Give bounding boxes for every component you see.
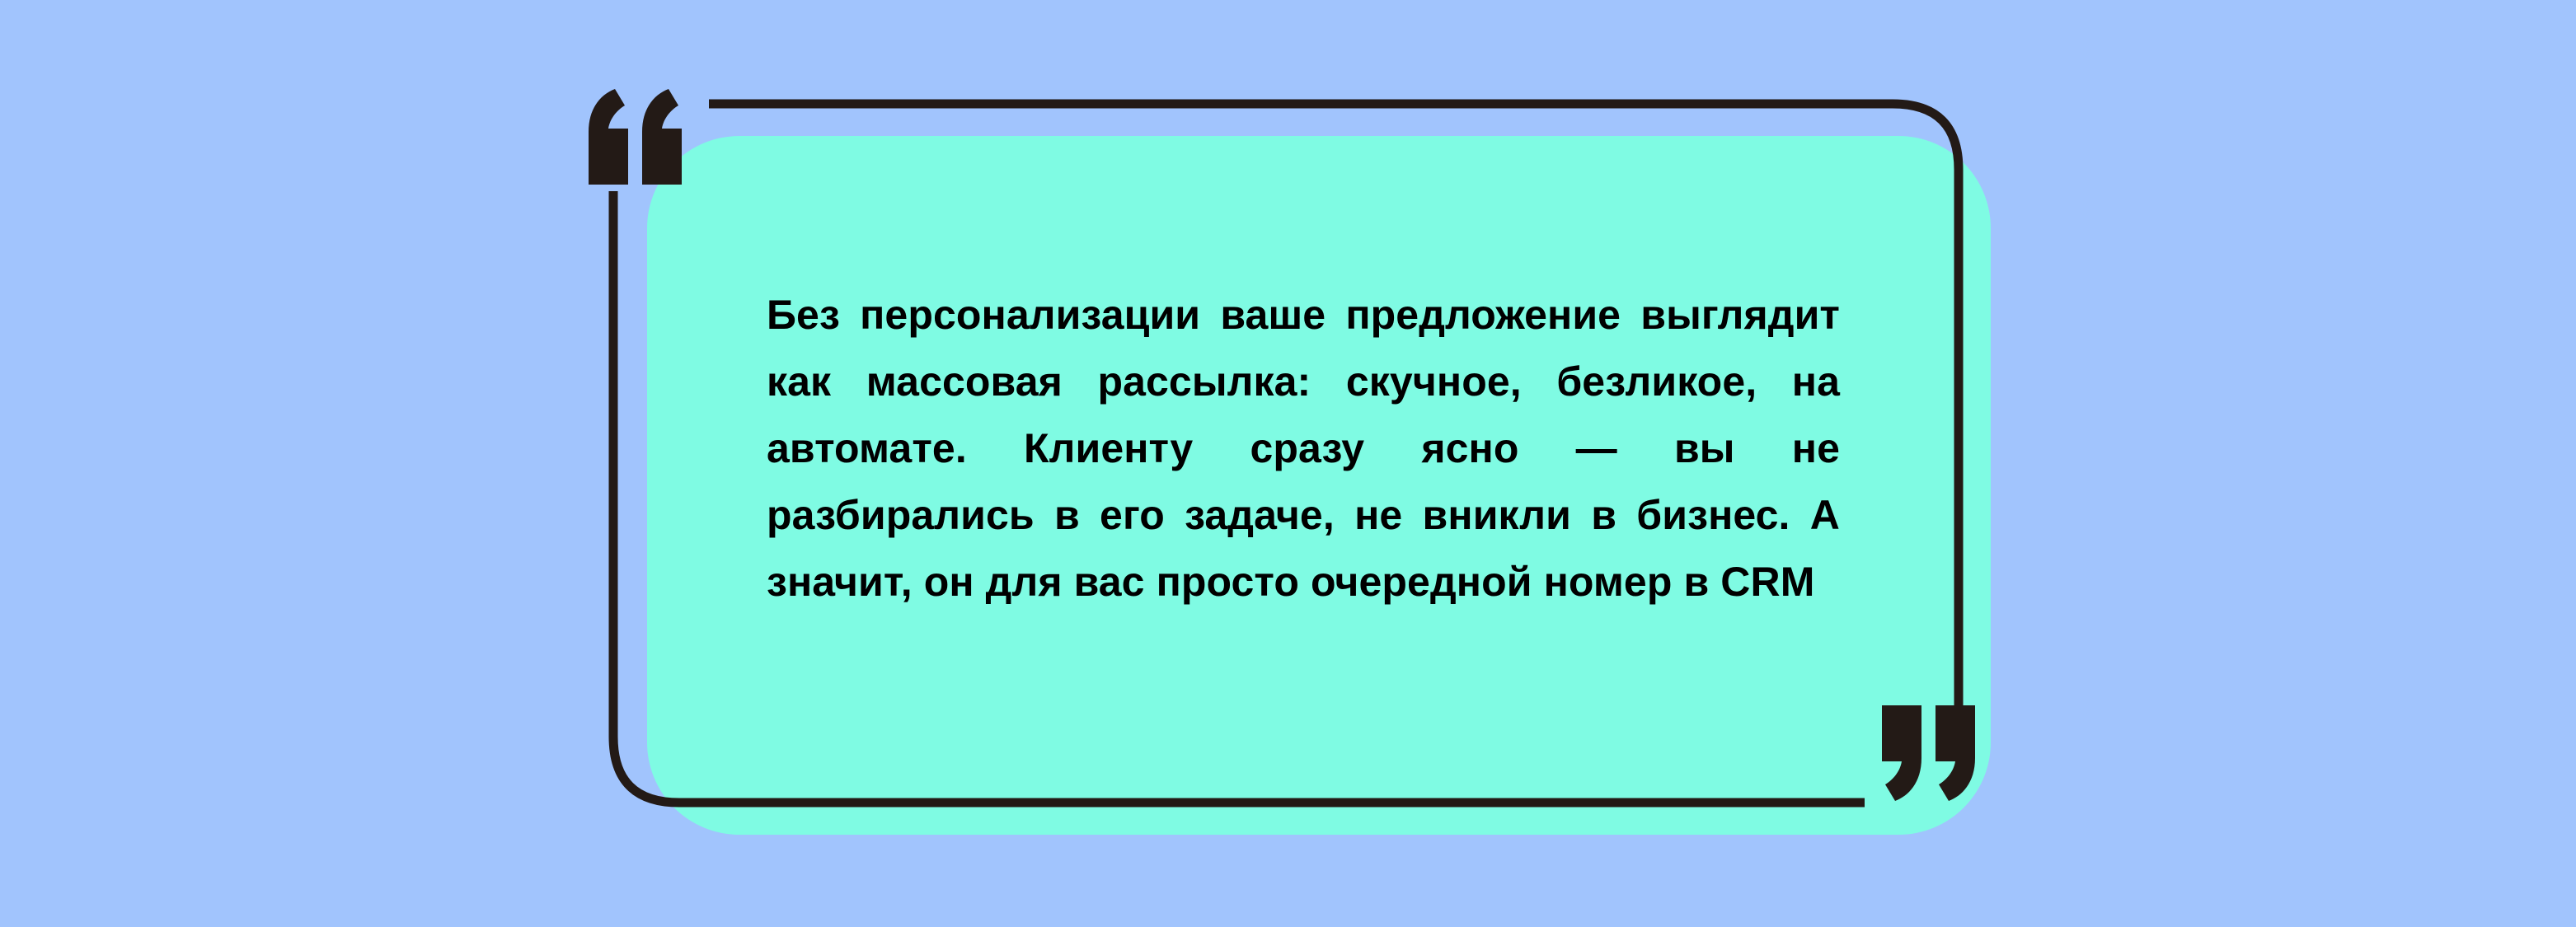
quote-text: Без персонализации ваше предложение выгл…: [767, 282, 1840, 616]
quote-open-icon: [582, 89, 689, 188]
quote-close-icon: [1875, 705, 1982, 804]
quote-card-canvas: Без персонализации ваше предложение выгл…: [0, 0, 2576, 927]
